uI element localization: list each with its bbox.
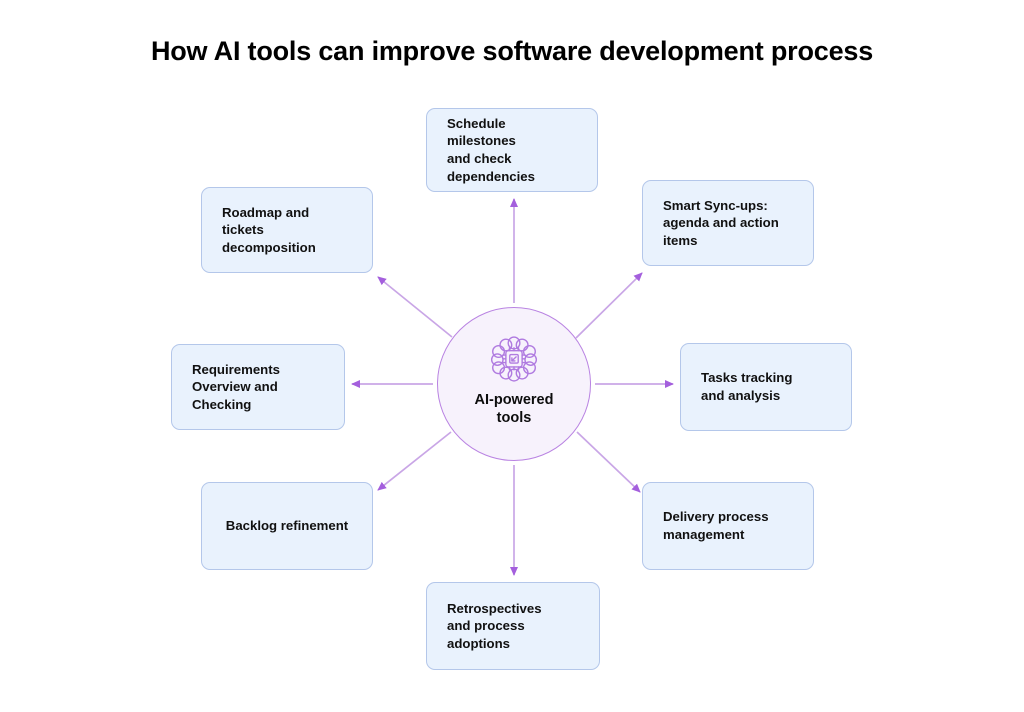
diagram-canvas: How AI tools can improve software develo… — [0, 0, 1024, 712]
node-label: Retrospectives and process adoptions — [447, 600, 542, 653]
arrow-hub-to-roadmap-tickets — [378, 277, 452, 337]
hub-label: AI-powered tools — [475, 391, 554, 428]
node-label: Backlog refinement — [226, 517, 348, 535]
ai-brain-chip-icon — [488, 334, 540, 382]
node-box-retrospectives[interactable]: Retrospectives and process adoptions — [426, 582, 600, 670]
node-label: Roadmap and tickets decomposition — [222, 204, 352, 257]
node-box-tasks-tracking[interactable]: Tasks tracking and analysis — [680, 343, 852, 431]
node-label: Schedule milestones and check dependenci… — [447, 115, 577, 185]
node-label: Tasks tracking and analysis — [701, 369, 792, 404]
arrow-hub-to-backlog-refinement — [378, 432, 451, 490]
node-box-smart-sync-ups[interactable]: Smart Sync-ups: agenda and action items — [642, 180, 814, 266]
node-box-delivery-process-management[interactable]: Delivery process management — [642, 482, 814, 570]
hub-node-ai-powered-tools[interactable]: AI-powered tools — [437, 307, 591, 461]
arrow-hub-to-smart-sync-ups — [576, 273, 642, 338]
node-label: Delivery process management — [663, 508, 769, 543]
node-box-backlog-refinement[interactable]: Backlog refinement — [201, 482, 373, 570]
node-box-requirements-overview[interactable]: Requirements Overview and Checking — [171, 344, 345, 430]
node-label: Smart Sync-ups: agenda and action items — [663, 197, 779, 250]
node-box-schedule-milestones[interactable]: Schedule milestones and check dependenci… — [426, 108, 598, 192]
node-label: Requirements Overview and Checking — [192, 361, 280, 414]
node-box-roadmap-tickets[interactable]: Roadmap and tickets decomposition — [201, 187, 373, 273]
page-title: How AI tools can improve software develo… — [0, 36, 1024, 67]
arrow-hub-to-delivery-process — [577, 432, 640, 492]
